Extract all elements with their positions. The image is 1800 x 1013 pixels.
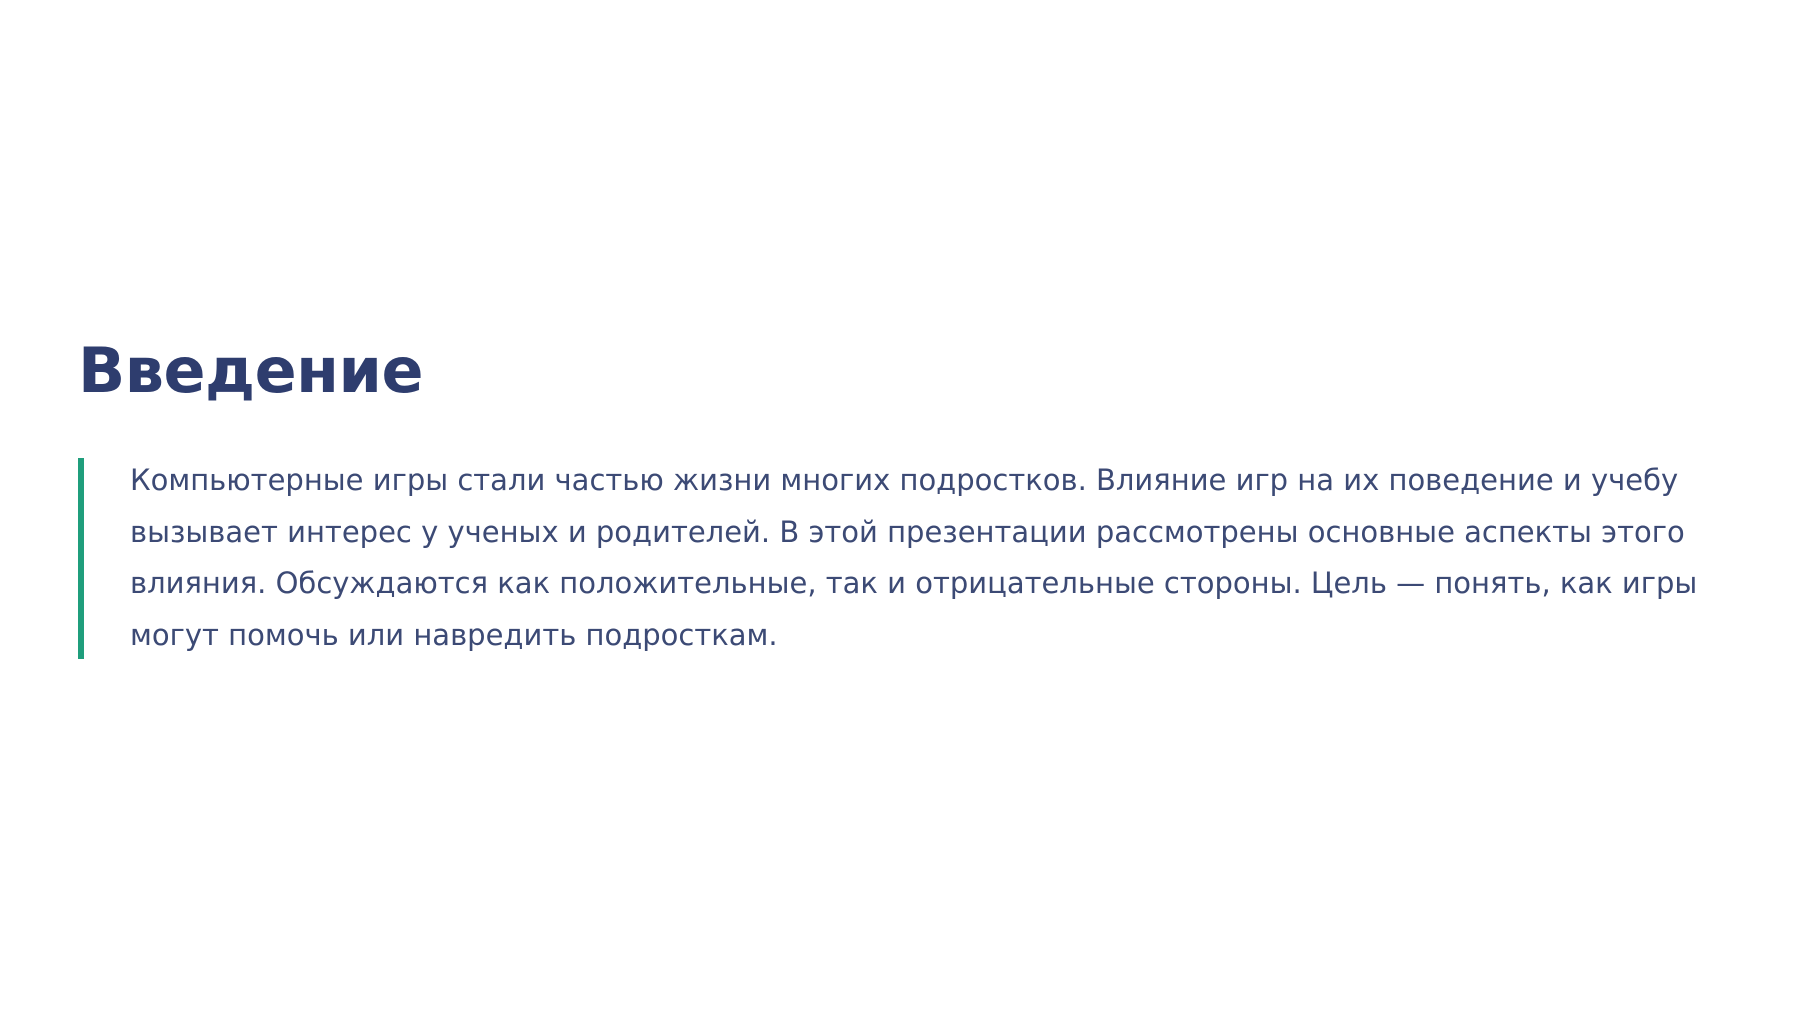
body-block: Компьютерные игры стали частью жизни мно… (78, 455, 1723, 661)
page-title: Введение (78, 338, 1723, 403)
presentation-slide: Введение Компьютерные игры стали частью … (0, 0, 1800, 1013)
body-paragraph: Компьютерные игры стали частью жизни мно… (130, 455, 1723, 661)
green-accent-bar (78, 458, 84, 658)
slide-content: Введение Компьютерные игры стали частью … (78, 338, 1723, 662)
